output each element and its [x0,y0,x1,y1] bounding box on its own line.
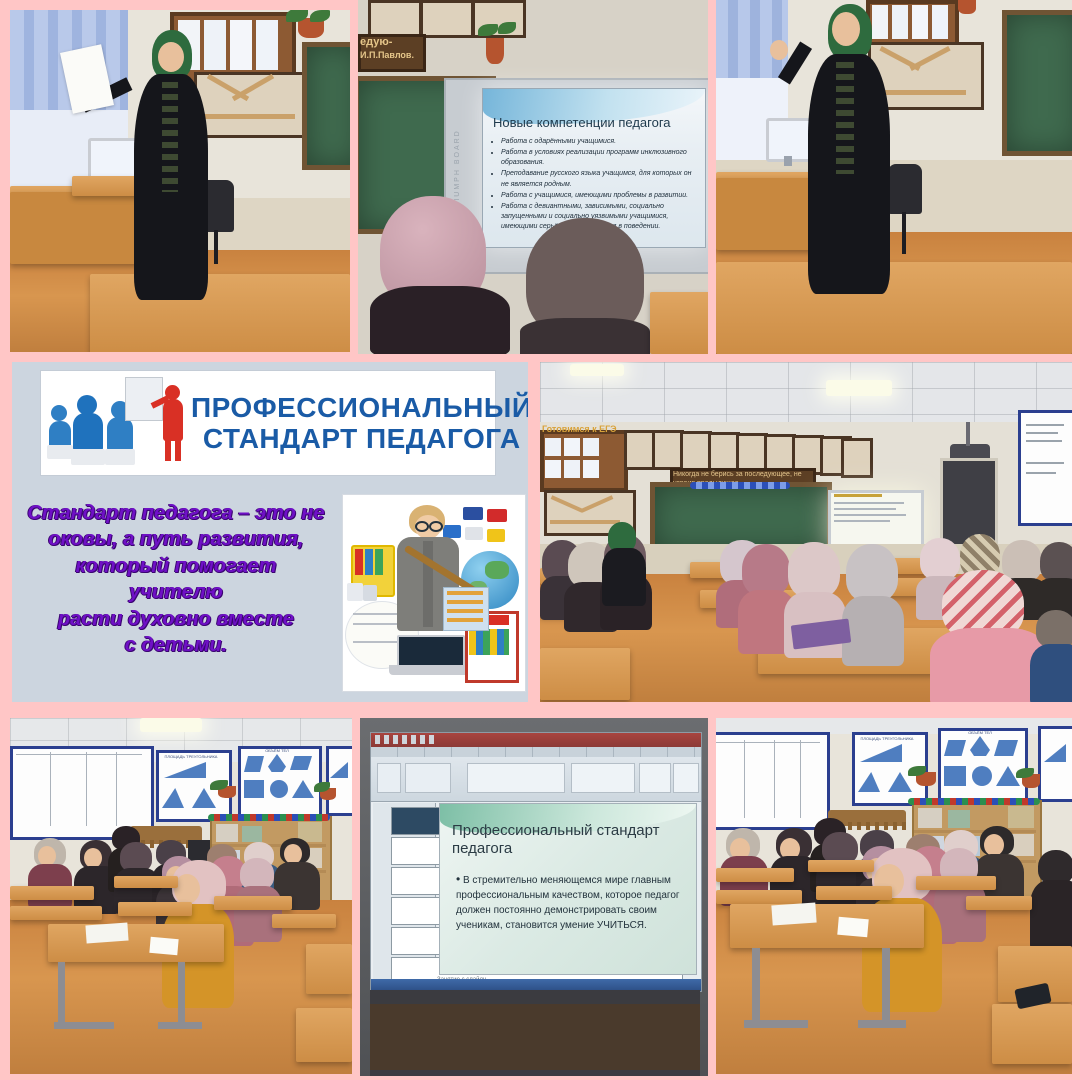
front-desk [730,904,924,948]
presenter-at-board [602,522,646,602]
geometry-poster-1-title: ПЛОЩАДЬ ТРЕУГОЛЬНИКА [160,754,222,759]
photo-audience-seated-left: ПЛОЩАДЬ ТРЕУГОЛЬНИКА ОБЪЁМ ТЕЛ [10,718,352,1074]
banner-line-2: СТАНДАРТ ПЕДАГОГА [191,423,528,454]
quote-line-5: с детьми. [26,632,326,658]
photo-audience-seated-right: ПЛОЩАДЬ ТРЕУГОЛЬНИКА ОБЪЁМ ТЕЛ [716,718,1072,1074]
quote-line-1: Стандарт педагога – это не [26,500,326,526]
slide-title: Новые компетенции педагога [493,115,699,130]
photo-teacher-presenting-right [716,0,1072,354]
front-desk [48,924,224,962]
wall-poster-right [1018,410,1072,526]
powerpoint-window: Профессиональный стандарт педагога • В с… [370,732,702,992]
quote-author: И.П.Павлов. [360,50,414,60]
photo-classroom-audience-wide: Готовимся к ЕГЭ Никогда не берись за пос… [540,362,1072,702]
photo-collage: едую- И.П.Павлов. TRIUMPH BOARD Новые ко… [0,0,1080,1080]
ceiling-light [140,718,202,732]
quote-line-2: оковы, а путь развития, [26,526,326,552]
garland-decoration [208,814,330,821]
geometry-poster-2-title: ОБЪЁМ ТЕЛ [942,730,1018,735]
chalkboard [1002,10,1072,156]
paper-on-desk [837,917,868,938]
banner-line-1: ПРОФЕССИОНАЛЬНЫЙ [191,392,528,423]
office-chair [888,164,922,214]
notebook-on-desk [85,923,128,944]
garland-decoration [908,798,1040,805]
exam-board-title: Готовимся к ЕГЭ [542,424,617,434]
presenting-teacher [804,4,890,290]
slide-professional-standard-of-teacher: Профессиональный стандарт педагога • В с… [439,803,697,975]
foreground-desk [716,262,1072,354]
banner-text: ПРОФЕССИОНАЛЬНЫЙ СТАНДАРТ ПЕДАГОГА [191,392,528,455]
ceiling-light [826,380,892,396]
photo-projector-slide-competencies: едую- И.П.Павлов. TRIUMPH BOARD Новые ко… [358,0,708,354]
slide-title: Профессиональный стандарт педагога [452,822,686,858]
photo-powerpoint-screen: Профессиональный стандарт педагога • В с… [360,718,708,1076]
audience-head-right [526,218,646,354]
powerpoint-ribbon-tabs [371,747,701,757]
audience-head-left [370,196,510,354]
professional-standard-banner: ПРОФЕССИОНАЛЬНЫЙ СТАНДАРТ ПЕДАГОГА [40,370,496,476]
teacher-with-teaching-materials [342,494,526,692]
quote-line-4: расти духовно вместе [26,606,326,632]
foreground-attendee [934,570,1042,702]
slide-bullet: • В стремительно меняющемся мире главным… [456,870,686,933]
geometry-poster-1-title: ПЛОЩАДЬ ТРЕУГОЛЬНИКА [856,736,918,741]
notebook-on-desk [771,902,816,925]
tinsel-decoration [690,482,790,489]
powerpoint-quick-access [375,735,435,744]
banner-illustration [41,371,191,475]
chalkboard [302,42,350,170]
teacher-standard-quote: Стандарт педагога – это не оковы, а путь… [26,500,326,658]
reference-whiteboard [716,732,830,830]
photo-teacher-presenting-left [10,10,350,352]
geometry-poster-2-title: ОБЪЁМ ТЕЛ [242,748,312,753]
quote-line-3: который помогает учителю [26,553,326,606]
panel-banner-and-quote: ПРОФЕССИОНАЛЬНЫЙ СТАНДАРТ ПЕДАГОГА Станд… [12,362,528,702]
paper-on-desk [149,937,178,955]
presenting-teacher [128,30,208,300]
